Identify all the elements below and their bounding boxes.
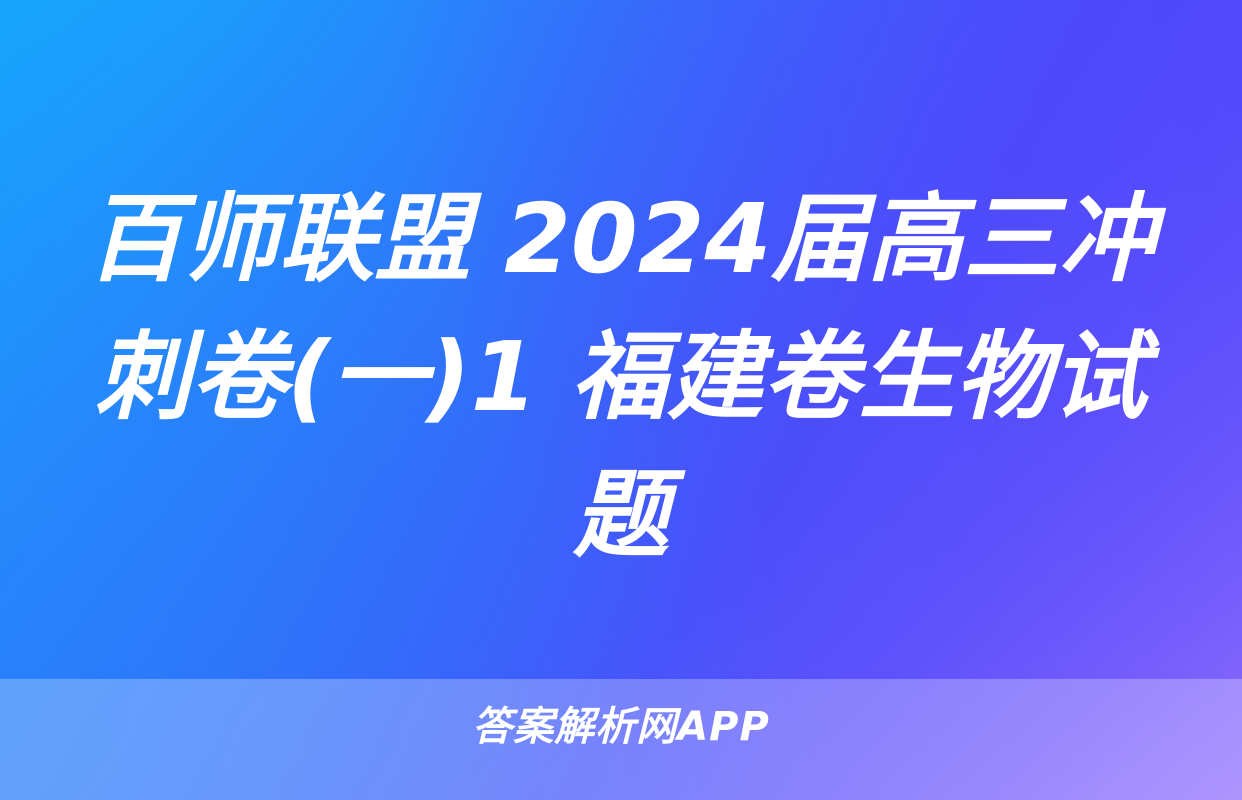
title-container: 百师联盟 2024届高三冲刺卷(一)1 福建卷生物试题 bbox=[0, 170, 1242, 585]
page-title: 百师联盟 2024届高三冲刺卷(一)1 福建卷生物试题 bbox=[76, 170, 1166, 585]
app-watermark-label: 答案解析网APP bbox=[472, 706, 770, 748]
poster-canvas: 百师联盟 2024届高三冲刺卷(一)1 福建卷生物试题 答案解析网APP bbox=[0, 0, 1242, 800]
watermark-container: 答案解析网APP bbox=[0, 706, 1242, 748]
